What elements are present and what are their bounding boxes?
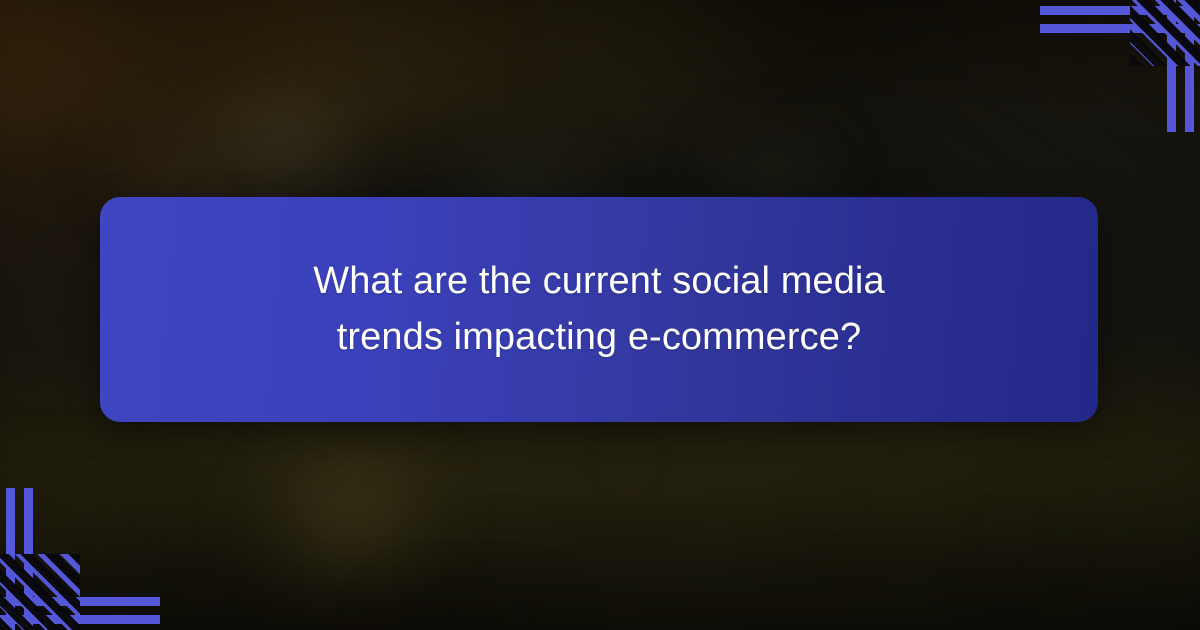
question-text: What are the current social media trends…	[219, 254, 979, 366]
question-card: What are the current social media trends…	[100, 197, 1098, 422]
social-media-trends-card-canvas: What are the current social media trends…	[0, 0, 1200, 630]
